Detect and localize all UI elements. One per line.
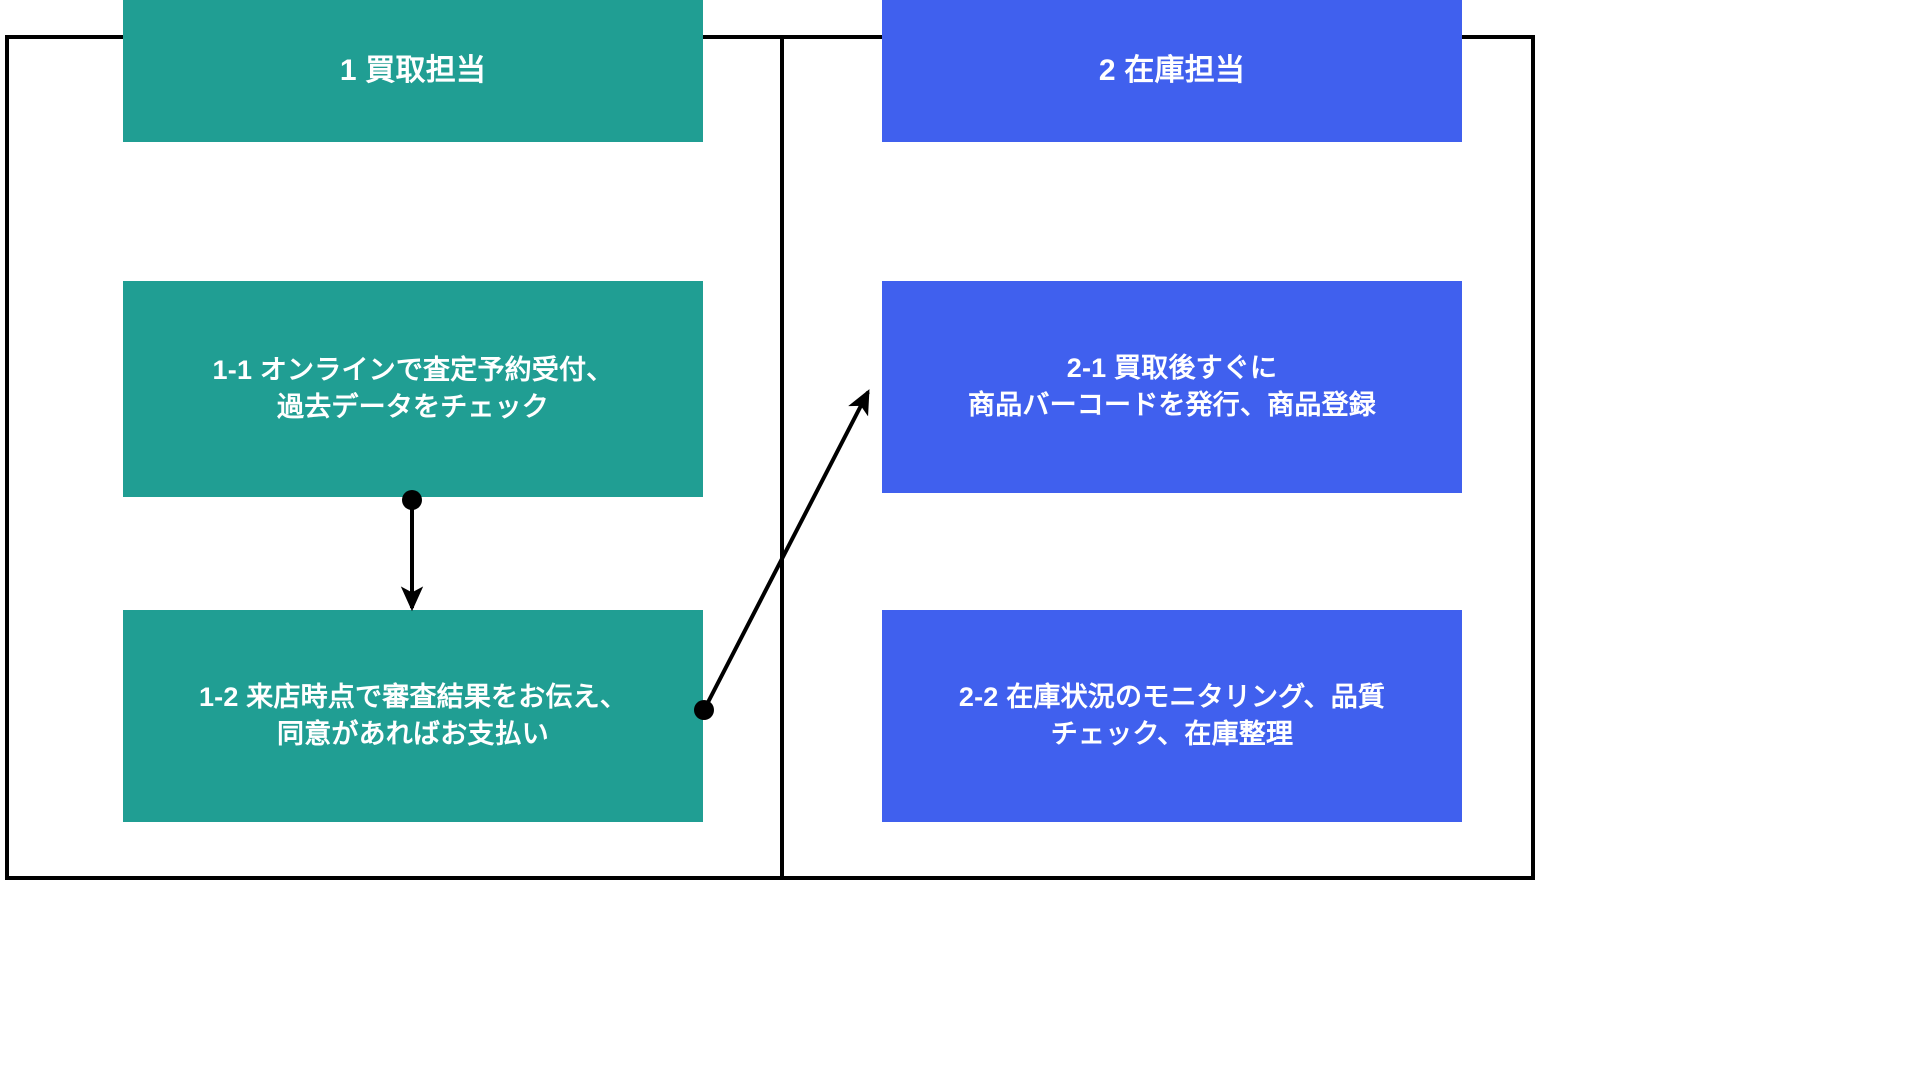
node-1-2[interactable]: 1-2 来店時点で審査結果をお伝え、 同意があればお支払い: [123, 610, 703, 822]
lane-2-header[interactable]: 2 在庫担当: [882, 0, 1462, 142]
swimlane-diagram: 1 買取担当 1-1 オンラインで査定予約受付、 過去データをチェック 1-2 …: [0, 0, 1920, 1080]
node-2-2[interactable]: 2-2 在庫状況のモニタリング、品質 チェック、在庫整理: [882, 610, 1462, 822]
node-1-1[interactable]: 1-1 オンラインで査定予約受付、 過去データをチェック: [123, 281, 703, 497]
lane-divider: [780, 35, 784, 880]
lane-1-header[interactable]: 1 買取担当: [123, 0, 703, 142]
node-2-1[interactable]: 2-1 買取後すぐに 商品バーコードを発行、商品登録: [882, 281, 1462, 493]
